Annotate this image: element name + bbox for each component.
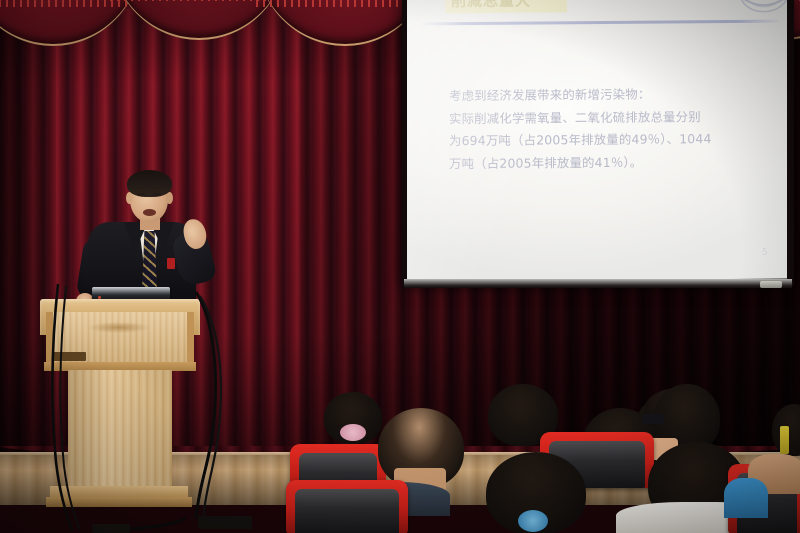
eyeglasses-icon bbox=[642, 414, 664, 424]
av-cables bbox=[0, 280, 320, 533]
presenter-eye-left bbox=[137, 193, 145, 196]
slide-page-number: 5 bbox=[762, 248, 768, 258]
projection-screen-surface[interactable]: CRAES 削减总量大 考虑到经济发展带来的新增污染物： 实际削减化学需氧量、二… bbox=[407, 0, 787, 281]
slide-title: 削减总量大 bbox=[451, 0, 567, 11]
audience-area bbox=[296, 386, 800, 533]
audience-seat[interactable] bbox=[286, 480, 408, 533]
slide-body-line: 考虑到经济发展带来的新增污染物： bbox=[449, 83, 781, 108]
yellow-lanyard-icon bbox=[780, 426, 789, 454]
presenter-eyebrow-left bbox=[136, 189, 146, 191]
seat-back-cushion bbox=[295, 489, 399, 533]
audience-shoulder bbox=[724, 478, 768, 518]
projection-screen-pull-handle[interactable] bbox=[760, 281, 782, 288]
presentation-photo-scene: CRAES 削减总量大 考虑到经济发展带来的新增污染物： 实际削减化学需氧量、二… bbox=[0, 0, 800, 533]
slide-body-line: 万吨（占2005年排放量的41％）。 bbox=[449, 150, 781, 175]
presenter-mouth bbox=[143, 209, 156, 216]
hair-scrunchie-pink bbox=[340, 424, 366, 441]
valance-fringe bbox=[0, 0, 142, 7]
hair-tie-blue bbox=[518, 510, 548, 532]
presenter-hair bbox=[127, 170, 172, 197]
craes-logo-icon: CRAES bbox=[737, 0, 787, 21]
presenter-ear-right bbox=[166, 192, 173, 204]
presenter-eyebrow-right bbox=[152, 189, 162, 191]
slide-body-text: 考虑到经济发展带来的新增污染物： 实际削减化学需氧量、二氧化硫排放总量分别 为6… bbox=[449, 83, 781, 176]
presenter-eye-right bbox=[153, 193, 161, 196]
slide-divider-rule bbox=[421, 20, 779, 26]
slide-body-line: 实际削减化学需氧量、二氧化硫排放总量分别 bbox=[449, 105, 781, 130]
valance-swag bbox=[0, 0, 142, 46]
projection-screen-bottom-bar bbox=[404, 279, 792, 288]
presenter-lapel-badge bbox=[167, 258, 175, 269]
slide-body-line: 为694万吨（占2005年排放量的49％）、1044 bbox=[449, 128, 781, 153]
